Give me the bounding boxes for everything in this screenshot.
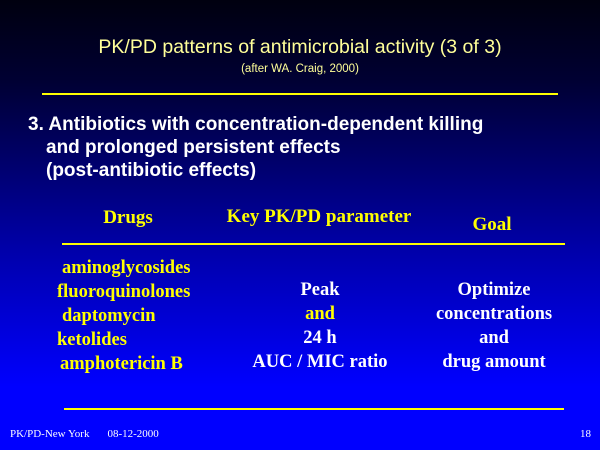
column-goal-content: Optimize concentrations and drug amount (414, 278, 574, 374)
parameter-line-2: and (222, 302, 418, 326)
heading-line-3: (post-antibiotic effects) (28, 159, 573, 182)
footer-info: PK/PD-New York08-12-2000 (10, 428, 159, 440)
title-divider-rule (42, 93, 558, 95)
parameter-line-4: AUC / MIC ratio (222, 350, 418, 374)
goal-line-1: Optimize (414, 278, 574, 302)
list-item: fluoroquinolones (57, 280, 227, 304)
footer-date-label: 08-12-2000 (89, 428, 158, 440)
footer-page-number: 18 (580, 428, 591, 440)
slide-heading: 3. Antibiotics with concentration-depend… (28, 113, 573, 182)
column-header-goal: Goal (432, 214, 552, 236)
footer-event-label: PK/PD-New York (10, 428, 89, 440)
column-parameter-content: Peak and 24 h AUC / MIC ratio (222, 278, 418, 374)
slide-subtitle: (after WA. Craig, 2000) (0, 63, 600, 75)
heading-line-1: 3. Antibiotics with concentration-depend… (28, 114, 483, 135)
list-item: aminoglycosides (57, 256, 227, 280)
list-item: ketolides (57, 328, 227, 352)
list-item: daptomycin (57, 304, 227, 328)
slide-title: PK/PD patterns of antimicrobial activity… (0, 36, 600, 59)
goal-line-2: concentrations (414, 302, 574, 326)
parameter-line-3: 24 h (222, 326, 418, 350)
footer-divider-rule (64, 408, 564, 410)
slide-canvas: PK/PD patterns of antimicrobial activity… (0, 0, 600, 450)
column-header-drugs: Drugs (60, 207, 196, 229)
parameter-line-1: Peak (222, 278, 418, 302)
goal-line-3: and (414, 326, 574, 350)
column-drugs-list: aminoglycosides fluoroquinolones daptomy… (57, 256, 227, 376)
list-item: amphotericin B (57, 352, 227, 376)
goal-line-4: drug amount (414, 350, 574, 374)
column-header-parameter: Key PK/PD parameter (208, 206, 430, 228)
table-header-rule (62, 243, 565, 245)
heading-line-2: and prolonged persistent effects (28, 136, 573, 159)
